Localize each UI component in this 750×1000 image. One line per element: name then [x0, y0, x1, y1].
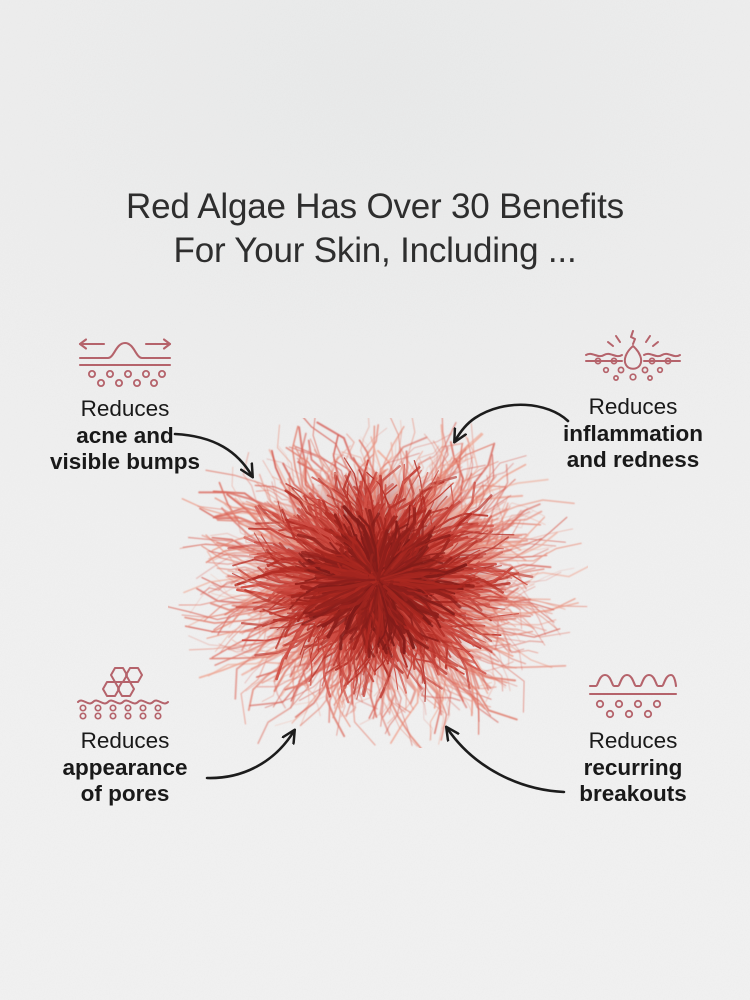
- headline-line-1: Red Algae Has Over 30 Benefits: [126, 187, 624, 226]
- benefit-breakouts-strong2: breakouts: [528, 781, 738, 808]
- benefit-pores-lead: Reduces: [20, 728, 230, 755]
- infographic-page: Red Algae Has Over 30 Benefits For Your …: [0, 0, 750, 1000]
- benefit-pores: Reduces appearance of pores: [20, 664, 230, 808]
- breakout-bumps-icon: [528, 664, 738, 720]
- headline-line-2: For Your Skin, Including ...: [0, 229, 750, 273]
- inflamed-pore-rays-icon: [528, 330, 738, 386]
- benefit-breakouts-lead: Reduces: [528, 728, 738, 755]
- benefit-breakouts-caption: Reduces recurring breakouts: [528, 728, 738, 808]
- benefit-inflammation-lead: Reduces: [528, 394, 738, 421]
- benefit-acne-strong2: visible bumps: [20, 449, 230, 476]
- benefit-breakouts: Reduces recurring breakouts: [528, 664, 738, 808]
- benefit-inflammation-strong2: and redness: [528, 447, 738, 474]
- benefit-inflammation: Reduces inflammation and redness: [528, 330, 738, 474]
- benefit-breakouts-strong1: recurring: [528, 755, 738, 782]
- benefit-pores-caption: Reduces appearance of pores: [20, 728, 230, 808]
- benefit-acne: Reduces acne and visible bumps: [20, 332, 230, 476]
- benefit-acne-strong1: acne and: [20, 423, 230, 450]
- hexagon-pores-icon: [20, 664, 230, 720]
- red-algae-image: [168, 418, 588, 748]
- benefit-pores-strong1: appearance: [20, 755, 230, 782]
- benefit-inflammation-caption: Reduces inflammation and redness: [528, 394, 738, 474]
- benefit-pores-strong2: of pores: [20, 781, 230, 808]
- benefit-inflammation-strong1: inflammation: [528, 421, 738, 448]
- benefit-acne-caption: Reduces acne and visible bumps: [20, 396, 230, 476]
- skin-bump-arrows-icon: [20, 332, 230, 388]
- page-title: Red Algae Has Over 30 Benefits For Your …: [0, 185, 750, 273]
- benefit-acne-lead: Reduces: [20, 396, 230, 423]
